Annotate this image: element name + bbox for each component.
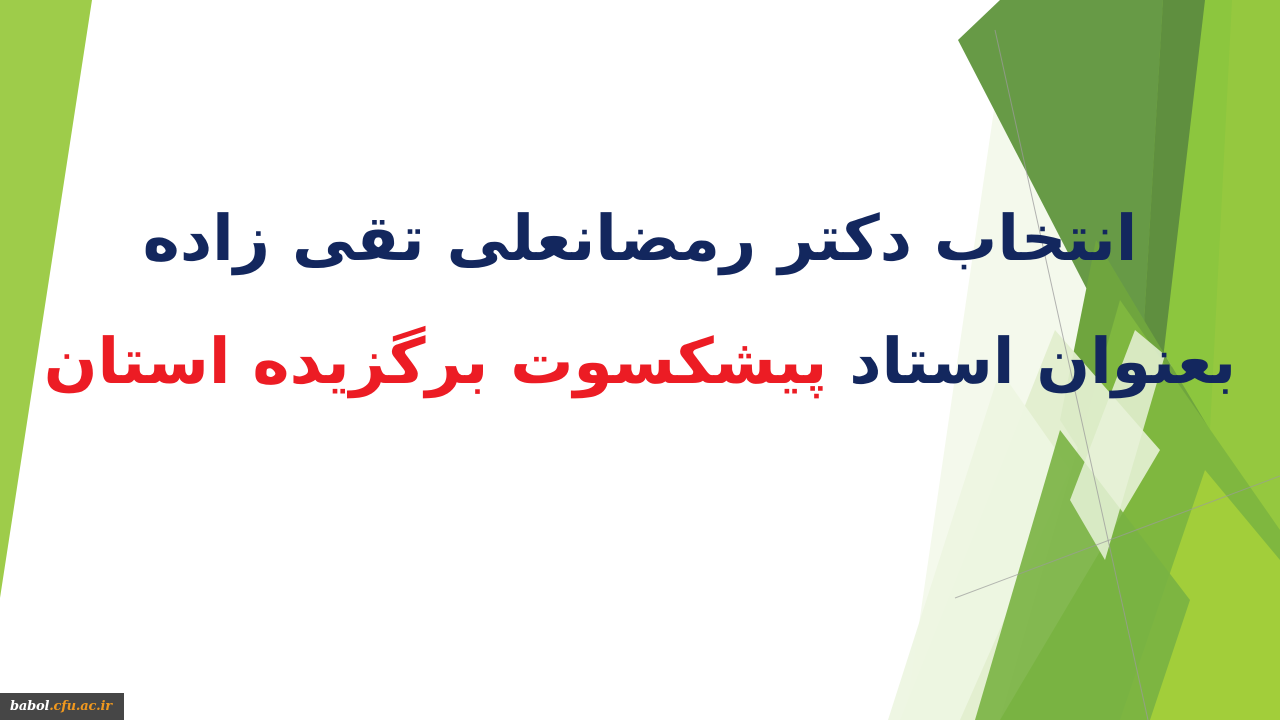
watermark-badge: babol.cfu.ac.ir bbox=[0, 693, 124, 720]
title-line-2-segment-red: پیشکسوت برگزیده استان bbox=[44, 325, 828, 398]
title-line-2-segment-navy: بعنوان استاد bbox=[827, 325, 1236, 398]
hairline-shallow bbox=[955, 476, 1280, 598]
title-line-2: بعنوان استاد پیشکسوت برگزیده استان bbox=[0, 301, 1280, 424]
lime-corner-bottom-right bbox=[1120, 470, 1280, 720]
slide-canvas: انتخاب دکتر رمضانعلی تقی زاده بعنوان است… bbox=[0, 0, 1280, 720]
title-line-1-segment-navy: انتخاب دکتر رمضانعلی تقی زاده bbox=[143, 202, 1138, 275]
watermark-site-name: babol bbox=[10, 699, 49, 714]
green-triangle-bottom bbox=[975, 430, 1190, 720]
title-block: انتخاب دکتر رمضانعلی تقی زاده بعنوان است… bbox=[0, 178, 1280, 424]
watermark-site-domain: .cfu.ac.ir bbox=[49, 699, 112, 714]
title-line-1: انتخاب دکتر رمضانعلی تقی زاده bbox=[0, 178, 1280, 301]
